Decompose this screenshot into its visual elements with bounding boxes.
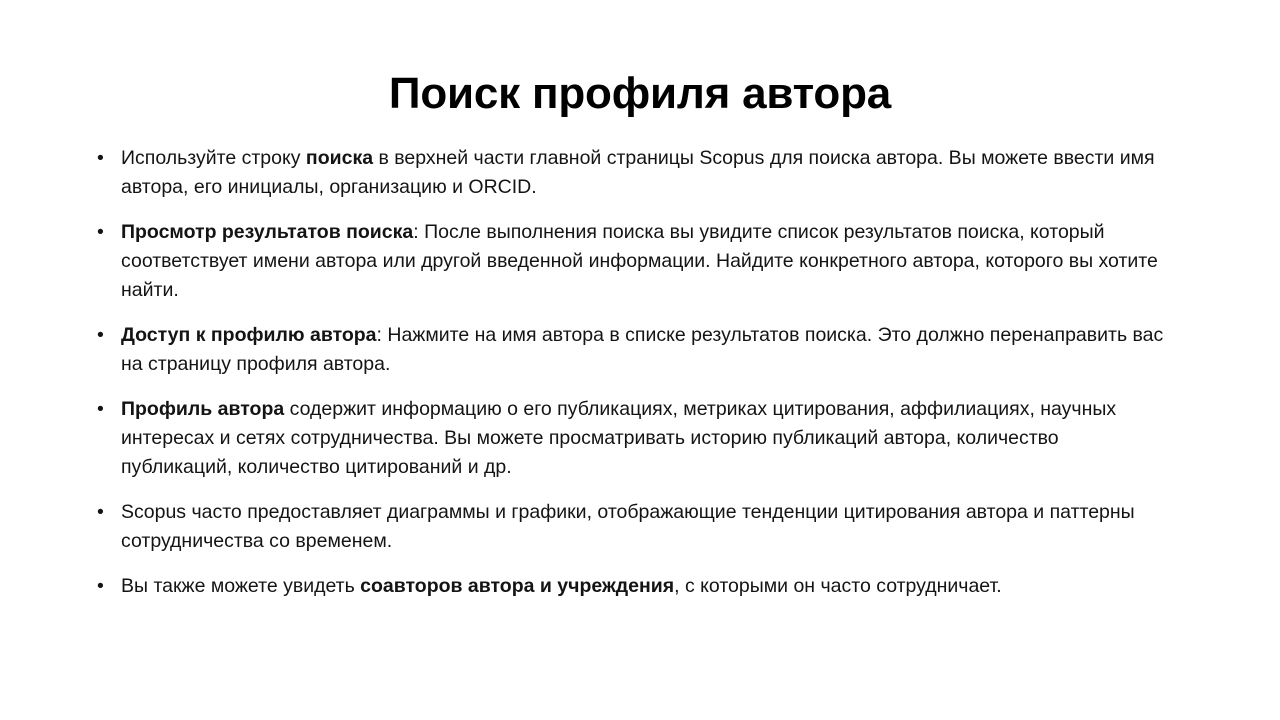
bullet-marker-icon: •	[97, 498, 111, 527]
list-item-text: Scopus часто предоставляет диаграммы и г…	[121, 498, 1170, 556]
list-item-text: Доступ к профилю автора: Нажмите на имя …	[121, 321, 1170, 379]
list-item-emphasis: Доступ к профилю автора	[121, 324, 377, 346]
bullet-marker-icon: •	[97, 572, 111, 601]
list-item: •Профиль автора содержит информацию о ег…	[92, 395, 1170, 482]
list-item-emphasis: поиска	[306, 147, 373, 169]
list-item-text: Просмотр результатов поиска: После выпол…	[121, 218, 1170, 305]
bullet-marker-icon: •	[97, 144, 111, 173]
list-item-text: Используйте строку поиска в верхней част…	[121, 144, 1170, 202]
bullet-marker-icon: •	[97, 321, 111, 350]
list-item: •Используйте строку поиска в верхней час…	[92, 144, 1170, 202]
bullet-list: •Используйте строку поиска в верхней час…	[92, 144, 1170, 601]
list-item: •Вы также можете увидеть соавторов автор…	[92, 572, 1170, 601]
page-title: Поиск профиля автора	[64, 68, 1216, 120]
list-item-emphasis: Профиль автора	[121, 398, 284, 420]
list-item: •Scopus часто предоставляет диаграммы и …	[92, 498, 1170, 556]
list-item-emphasis: Просмотр результатов поиска	[121, 221, 413, 243]
list-item-run: , с которыми он часто сотрудничает.	[674, 575, 1002, 597]
list-item-run: Используйте строку	[121, 147, 306, 169]
slide: Поиск профиля автора •Используйте строку…	[0, 0, 1280, 720]
list-item: •Просмотр результатов поиска: После выпо…	[92, 218, 1170, 305]
bullet-marker-icon: •	[97, 395, 111, 424]
list-item-text: Профиль автора содержит информацию о его…	[121, 395, 1170, 482]
list-item-text: Вы также можете увидеть соавторов автора…	[121, 572, 1170, 601]
list-item-run: Вы также можете увидеть	[121, 575, 360, 597]
list-item-run: Scopus часто предоставляет диаграммы и г…	[121, 501, 1135, 552]
bullet-marker-icon: •	[97, 218, 111, 247]
list-item: •Доступ к профилю автора: Нажмите на имя…	[92, 321, 1170, 379]
list-item-emphasis: соавторов автора и учреждения	[360, 575, 674, 597]
